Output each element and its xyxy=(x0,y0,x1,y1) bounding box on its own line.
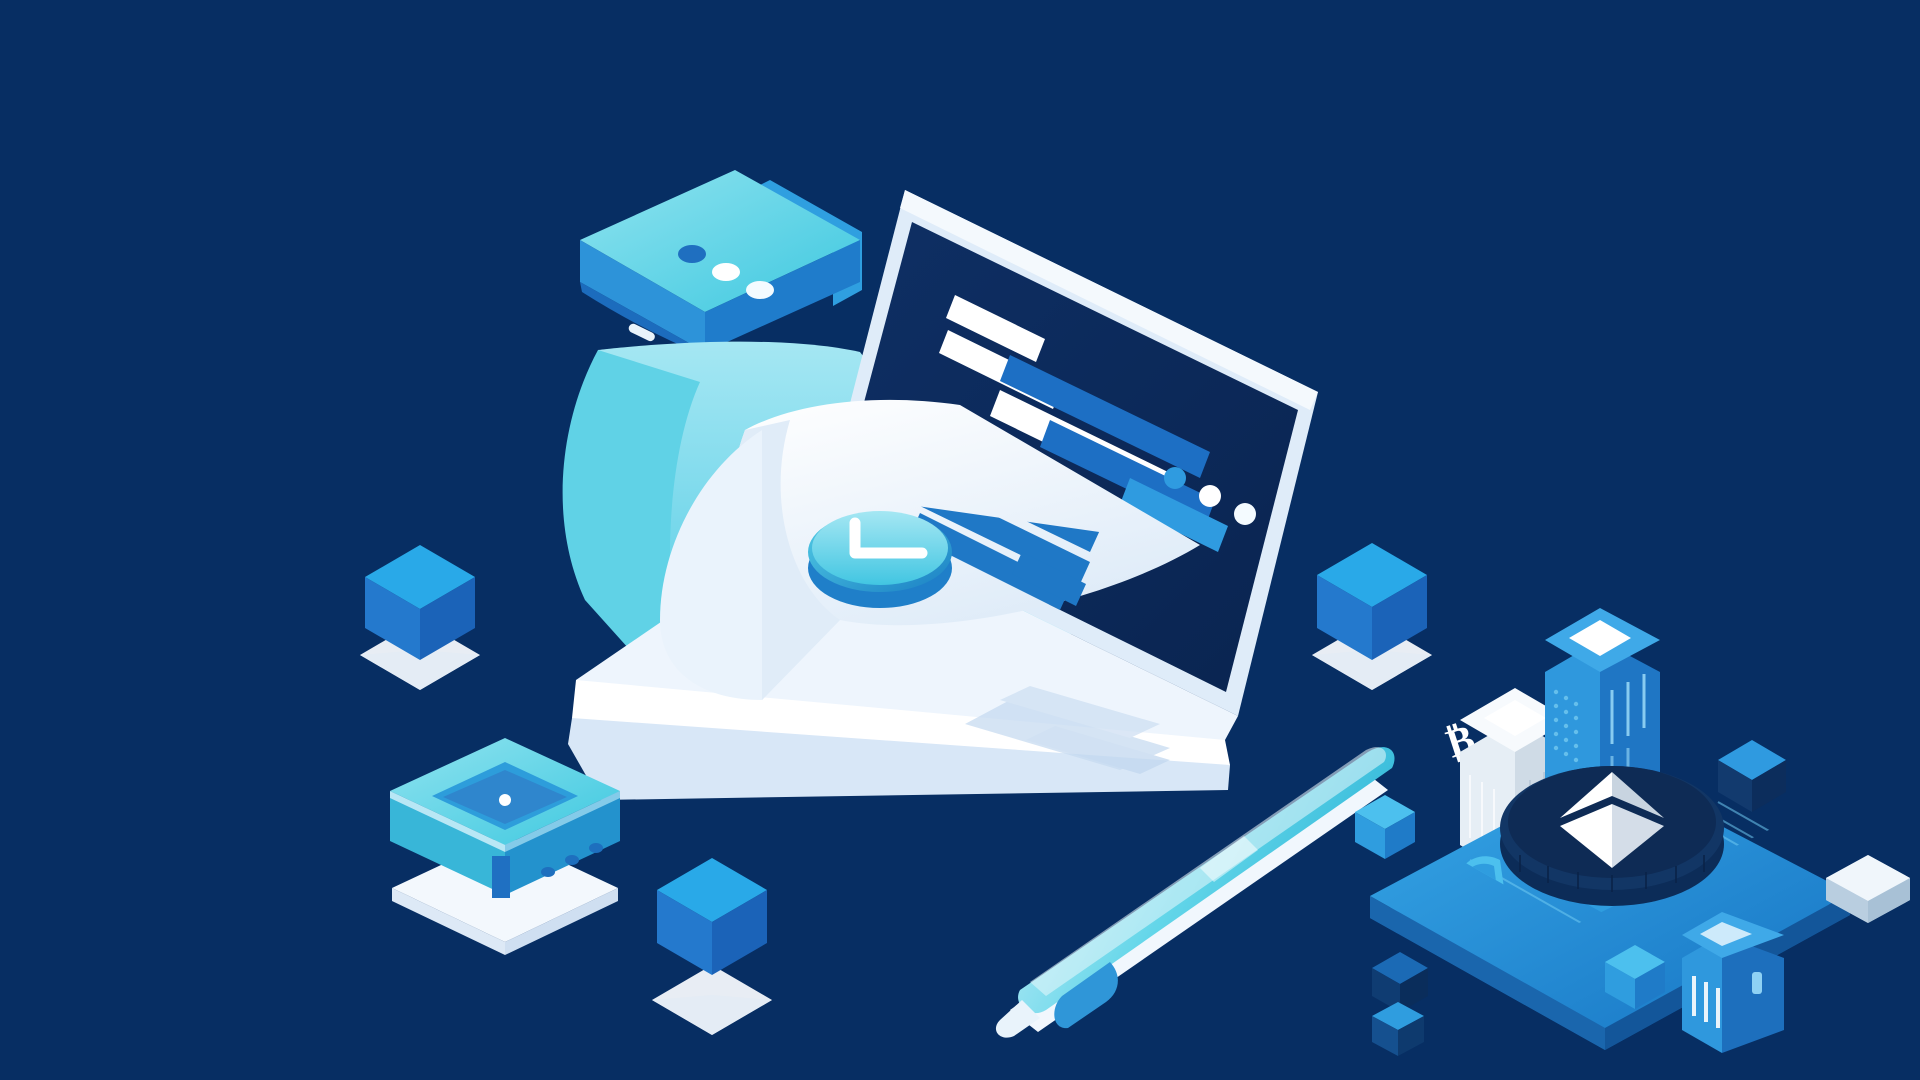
hero-illustration: ₿ xyxy=(0,0,1920,1080)
ethereum-coin xyxy=(1500,766,1724,906)
screen-dot-1 xyxy=(1164,467,1186,489)
screen-dot-2 xyxy=(1199,485,1221,507)
battery-module xyxy=(1682,912,1784,1053)
screen-dot-3 xyxy=(1234,503,1256,525)
cube-left-lower xyxy=(652,858,772,1035)
isometric-scene: ₿ xyxy=(0,0,1920,1080)
clock-badge xyxy=(808,511,952,608)
banner-root: REAL-TIME USE CASES OF SMART CONTRACTS &… xyxy=(0,0,1920,1080)
